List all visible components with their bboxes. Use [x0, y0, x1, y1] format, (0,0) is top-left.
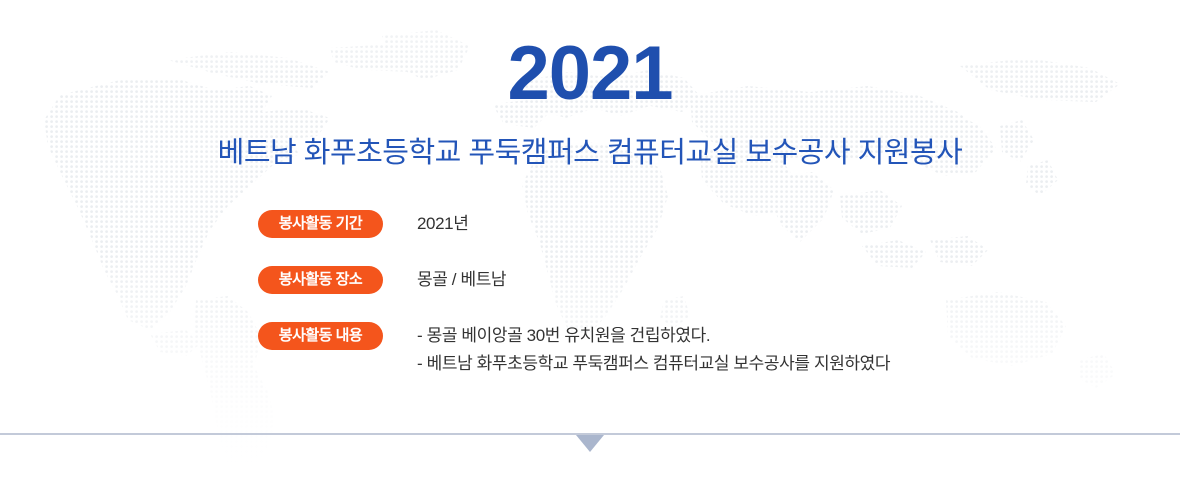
value-line: - 몽골 베이앙골 30번 유치원을 건립하였다.: [417, 322, 1118, 350]
value-activity-description: - 몽골 베이앙골 30번 유치원을 건립하였다. - 베트남 화푸초등학교 푸…: [383, 322, 1118, 378]
volunteer-activity-banner: 2021 베트남 화푸초등학교 푸둑캠퍼스 컴퓨터교실 보수공사 지원봉사 봉사…: [0, 0, 1180, 495]
badge-activity-description: 봉사활동 내용: [258, 322, 383, 350]
value-line: 2021년: [417, 210, 1118, 238]
value-activity-location: 몽골 / 베트남: [383, 266, 1118, 294]
activity-info-list: 봉사활동 기간 2021년 봉사활동 장소 몽골 / 베트남 봉사활동 내용 -…: [258, 210, 1118, 378]
badge-activity-period: 봉사활동 기간: [258, 210, 383, 238]
value-activity-period: 2021년: [383, 210, 1118, 238]
info-row-description: 봉사활동 내용 - 몽골 베이앙골 30번 유치원을 건립하였다. - 베트남 …: [258, 322, 1118, 378]
value-line: - 베트남 화푸초등학교 푸둑캠퍼스 컴퓨터교실 보수공사를 지원하였다: [417, 350, 1118, 378]
info-row-period: 봉사활동 기간 2021년: [258, 210, 1118, 238]
badge-activity-location: 봉사활동 장소: [258, 266, 383, 294]
page-title-year: 2021: [0, 36, 1180, 112]
page-subtitle: 베트남 화푸초등학교 푸둑캠퍼스 컴퓨터교실 보수공사 지원봉사: [0, 136, 1180, 170]
info-row-location: 봉사활동 장소 몽골 / 베트남: [258, 266, 1118, 294]
value-line: 몽골 / 베트남: [417, 266, 1118, 294]
triangle-down-icon: [576, 435, 604, 452]
